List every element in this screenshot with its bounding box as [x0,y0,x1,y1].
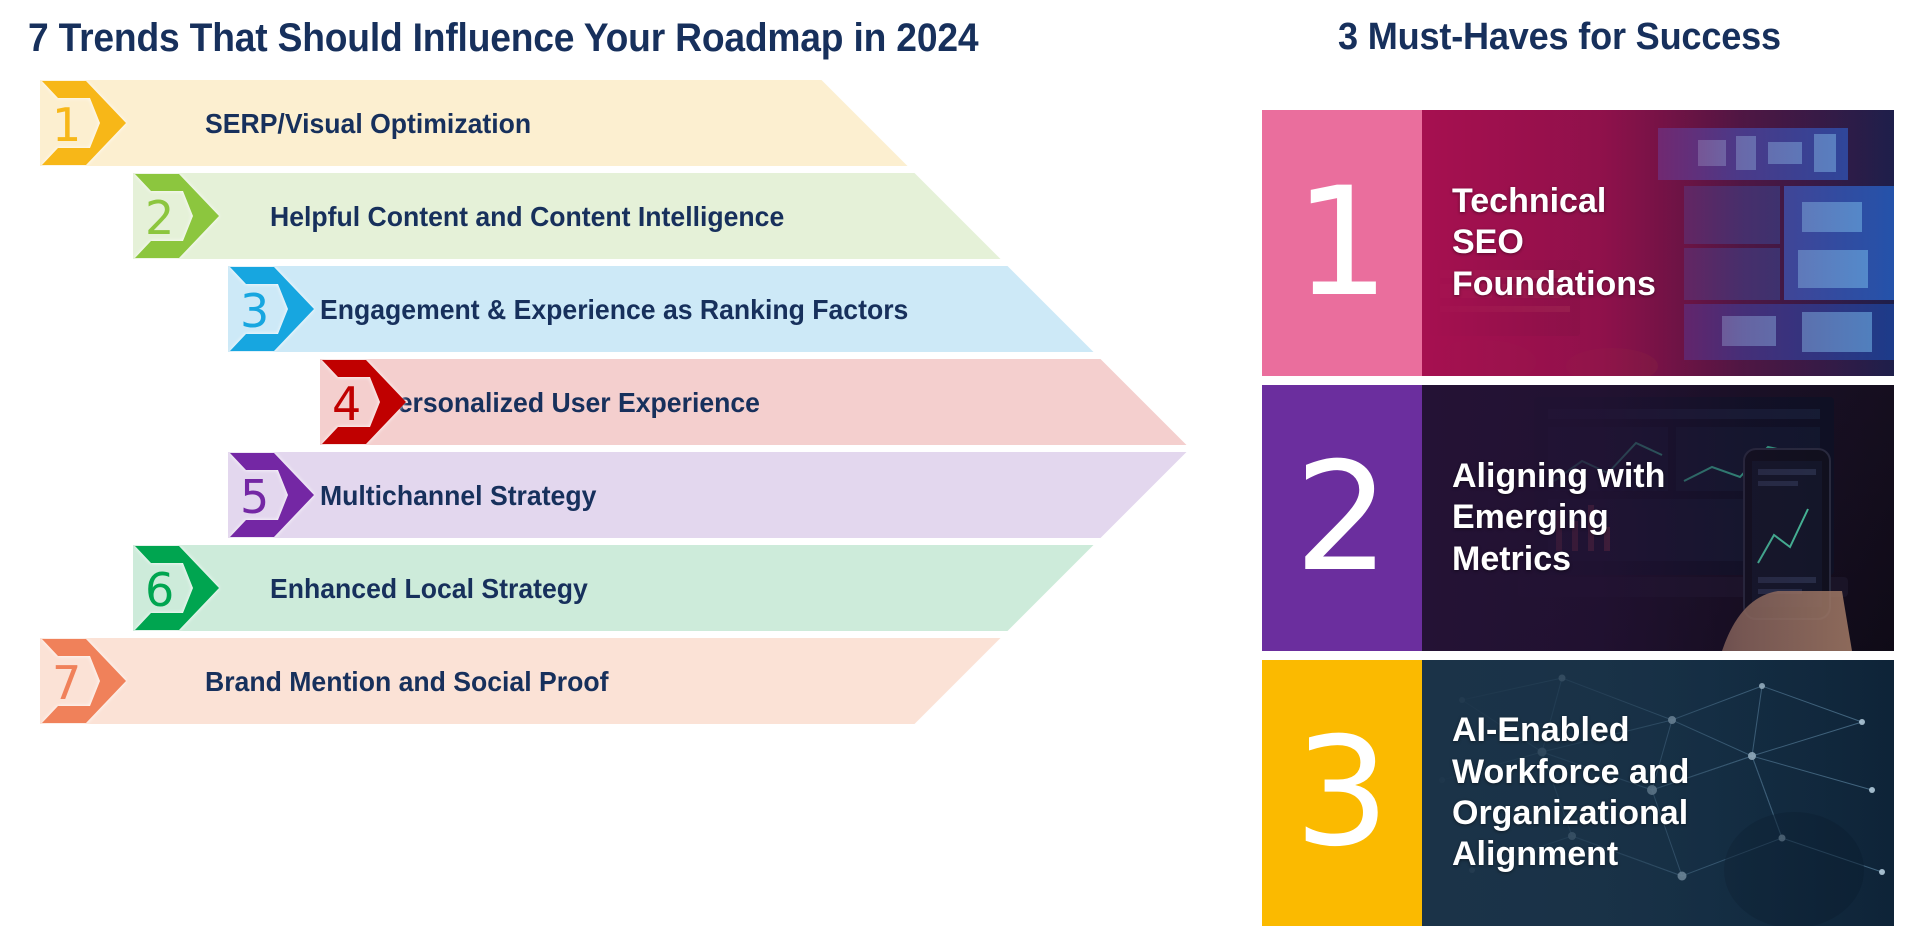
trend-row[interactable]: 1SERP/Visual Optimization [40,80,908,166]
trend-number: 7 [52,660,81,706]
trend-label: Engagement & Experience as Ranking Facto… [320,294,908,326]
right-panel-title: 3 Must-Haves for Success [1338,16,1781,59]
trend-label: Personalized User Experience [380,387,760,419]
trend-label: Multichannel Strategy [320,480,596,512]
trend-label: Helpful Content and Content Intelligence [270,201,784,233]
trend-number: 3 [240,288,269,334]
trend-row[interactable]: 4Personalized User Experience [320,359,1187,445]
card-title: Technical SEO Foundations [1452,110,1656,376]
must-have-card[interactable]: 2Aligning with Emerging Metrics [1262,385,1894,651]
card-title: Aligning with Emerging Metrics [1452,385,1665,651]
trend-number: 2 [145,195,174,241]
laptop-phone-trading-charts-photo: Aligning with Emerging Metrics [1422,385,1894,651]
trend-label: SERP/Visual Optimization [205,108,531,140]
must-haves-card-list: 1Technical SEO Foundations2Aligning with… [1262,110,1894,928]
trend-number: 4 [332,381,361,427]
trends-arrow-stack: 1SERP/Visual Optimization2Helpful Conten… [0,80,1240,880]
left-panel-title: 7 Trends That Should Influence Your Road… [28,16,978,61]
trend-label: Brand Mention and Social Proof [205,666,608,698]
must-have-card[interactable]: 3AI-Enabled Workforce and Organizational… [1262,660,1894,926]
trend-row[interactable]: 5Multichannel Strategy [228,452,1187,538]
card-number: 1 [1262,110,1422,376]
trend-row[interactable]: 6Enhanced Local Strategy [133,545,1094,631]
card-number: 3 [1262,660,1422,926]
control-room-monitors-photo: Technical SEO Foundations [1422,110,1894,376]
card-number: 2 [1262,385,1422,651]
trend-label: Enhanced Local Strategy [270,573,588,605]
trend-row[interactable]: 7Brand Mention and Social Proof [40,638,1001,724]
card-title: AI-Enabled Workforce and Organizational … [1452,660,1689,926]
trend-number: 5 [240,474,269,520]
ai-network-nodes-photo: AI-Enabled Workforce and Organizational … [1422,660,1894,926]
must-have-card[interactable]: 1Technical SEO Foundations [1262,110,1894,376]
trend-number: 1 [52,102,81,148]
trend-row[interactable]: 3Engagement & Experience as Ranking Fact… [228,266,1094,352]
trend-number: 6 [145,567,174,613]
trend-row[interactable]: 2Helpful Content and Content Intelligenc… [133,173,1001,259]
